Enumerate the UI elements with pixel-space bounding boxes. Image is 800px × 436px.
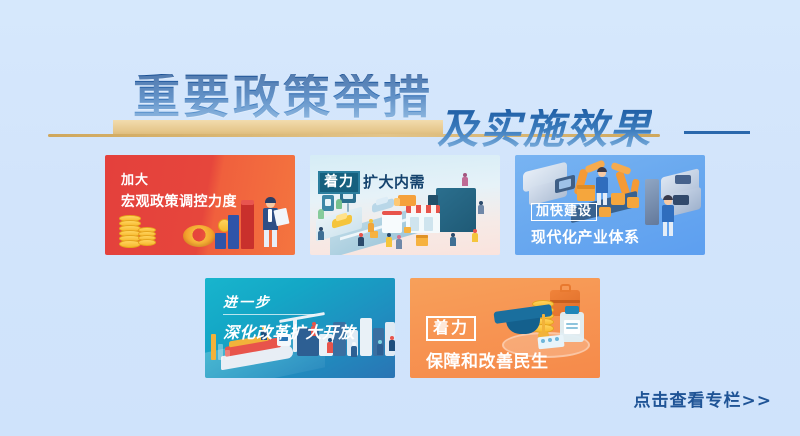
card-label: 进一步 深化改革扩大开放 <box>223 292 355 343</box>
card-label: 加大 宏观政策调控力度 <box>121 169 237 211</box>
card-label-line2: 保障和改善民生 <box>426 347 549 372</box>
card-label: 着力 保障和改善民生 <box>426 316 549 372</box>
poster-root: 重要政策举措 及实施效果 <box>0 0 800 436</box>
card-label-line1: 加大 <box>121 169 237 188</box>
card-art-isometric-city <box>310 155 500 255</box>
card-label-line1: 着力 <box>426 316 476 341</box>
page-subtitle: 及实施效果 <box>437 109 652 150</box>
card-label-line1: 着力 <box>318 171 360 194</box>
card-reform-opening[interactable]: 进一步 深化改革扩大开放 <box>205 278 395 378</box>
title-blue-rule <box>684 131 750 134</box>
card-expand-demand[interactable]: 着力 扩大内需 <box>310 155 500 255</box>
card-macro-policy[interactable]: 加大 宏观政策调控力度 <box>105 155 295 255</box>
view-column-link[interactable]: 点击查看专栏>> <box>634 386 773 411</box>
card-label: 着力 扩大内需 <box>318 171 425 194</box>
card-label: 加快建设 现代化产业体系 <box>531 200 640 247</box>
poster-header: 重要政策举措 及实施效果 <box>0 36 800 131</box>
page-title: 重要政策举措 <box>133 74 433 121</box>
card-modern-industry[interactable]: 加快建设 现代化产业体系 <box>515 155 705 255</box>
card-label-line2: 现代化产业体系 <box>531 226 640 247</box>
card-label-line2: 宏观政策调控力度 <box>121 191 237 211</box>
card-label-line2: 深化改革扩大开放 <box>223 319 355 343</box>
card-label-line2: 扩大内需 <box>363 175 425 190</box>
card-label-line1: 加快建设 <box>531 203 597 221</box>
card-label-divider <box>223 314 315 315</box>
card-label-line1: 进一步 <box>223 292 355 312</box>
card-livelihood[interactable]: 着力 保障和改善民生 <box>410 278 600 378</box>
